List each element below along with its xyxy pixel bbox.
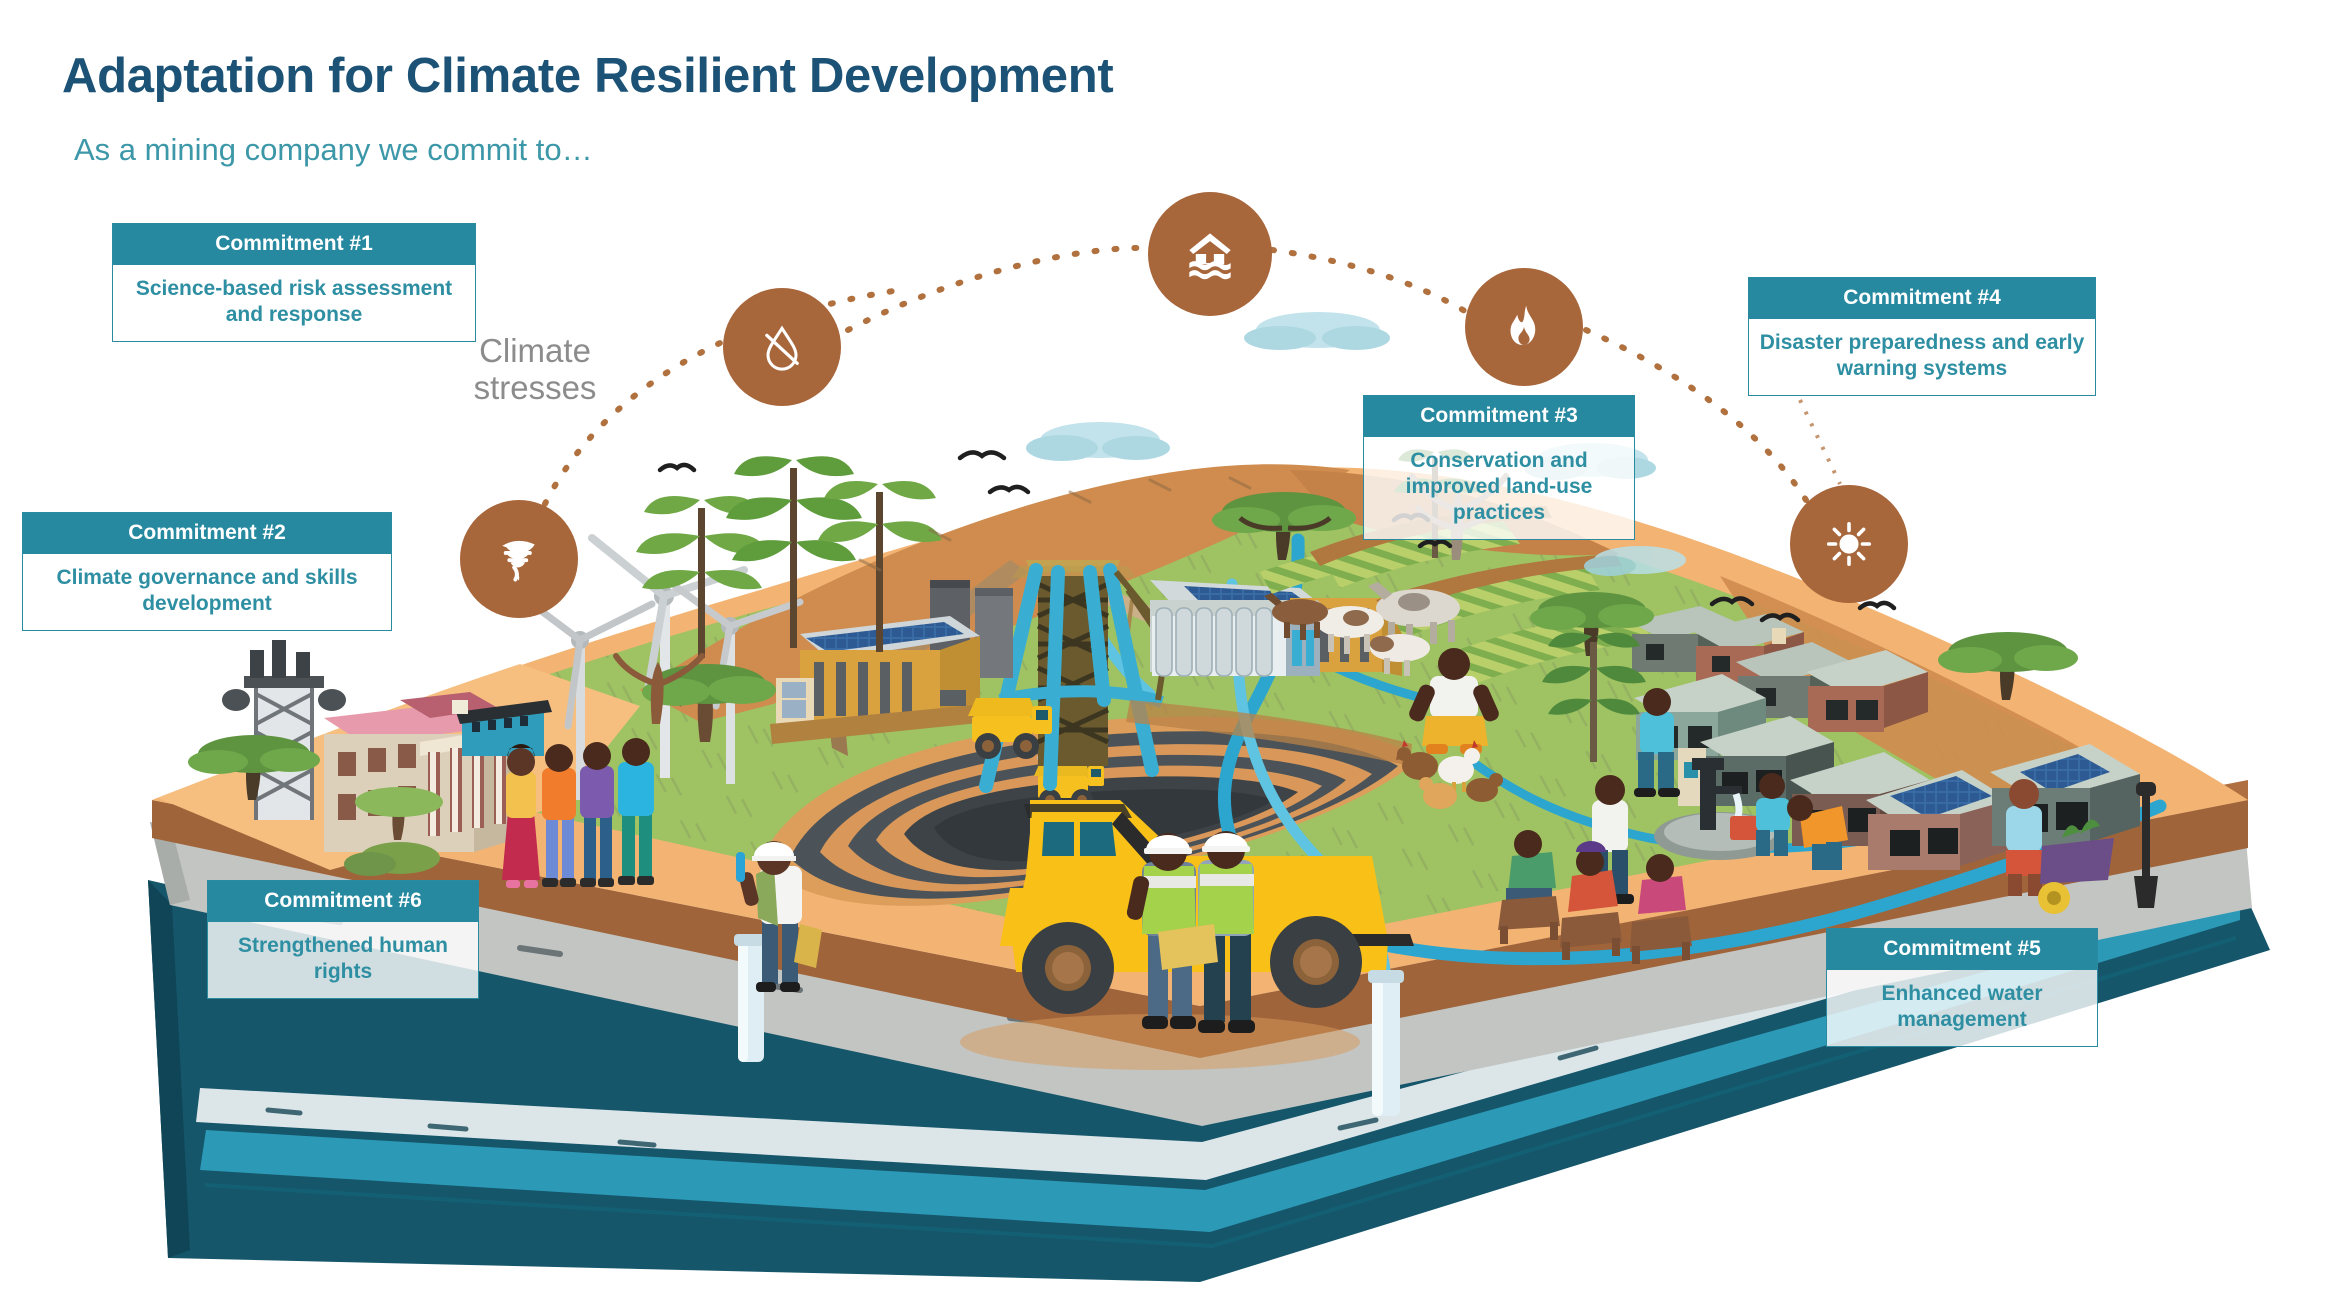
climate-stresses-label: Climate stresses: [440, 333, 630, 407]
climate-stresses-line-2: stresses: [440, 370, 630, 407]
wildfire-icon-bubble[interactable]: [1465, 268, 1583, 386]
commitment-card-6-body: Strengthened human rights: [208, 922, 478, 998]
commitment-card-3-body: Conservation and improved land-use pract…: [1364, 437, 1634, 539]
climate-resilient-mining-illustration: [0, 0, 2348, 1306]
cyclone-icon-bubble[interactable]: [460, 500, 578, 618]
infographic-canvas: Adaptation for Climate Resilient Develop…: [0, 0, 2348, 1306]
heat-icon: [1822, 517, 1876, 571]
flood-icon-bubble[interactable]: [1148, 192, 1272, 316]
commitment-card-5[interactable]: Commitment #5 Enhanced water management: [1826, 928, 2098, 1047]
wildfire-icon: [1497, 300, 1551, 354]
monitoring-well-right: [1368, 970, 1404, 1116]
heat-icon-bubble[interactable]: [1790, 485, 1908, 603]
commitment-card-1-body: Science-based risk assessment and respon…: [113, 265, 475, 341]
commitment-card-6[interactable]: Commitment #6 Strengthened human rights: [207, 880, 479, 999]
commitment-card-3-header: Commitment #3: [1364, 396, 1634, 437]
commitment-card-2-body: Climate governance and skills developmen…: [23, 554, 391, 630]
commitment-card-4[interactable]: Commitment #4 Disaster preparedness and …: [1748, 277, 2096, 396]
drought-icon-bubble[interactable]: [723, 288, 841, 406]
commitment-card-4-header: Commitment #4: [1749, 278, 2095, 319]
cyclone-icon: [490, 530, 548, 588]
commitment-card-6-header: Commitment #6: [208, 881, 478, 922]
commitment-card-4-body: Disaster preparedness and early warning …: [1749, 319, 2095, 395]
commitment-card-1[interactable]: Commitment #1 Science-based risk assessm…: [112, 223, 476, 342]
commitment-card-1-header: Commitment #1: [113, 224, 475, 265]
flood-icon: [1179, 223, 1241, 285]
commitment-card-3[interactable]: Commitment #3 Conservation and improved …: [1363, 395, 1635, 540]
commitment-card-2-header: Commitment #2: [23, 513, 391, 554]
commitment-card-5-header: Commitment #5: [1827, 929, 2097, 970]
commitment-card-2[interactable]: Commitment #2 Climate governance and ski…: [22, 512, 392, 631]
drought-icon: [754, 319, 810, 375]
commitment-card-5-body: Enhanced water management: [1827, 970, 2097, 1046]
